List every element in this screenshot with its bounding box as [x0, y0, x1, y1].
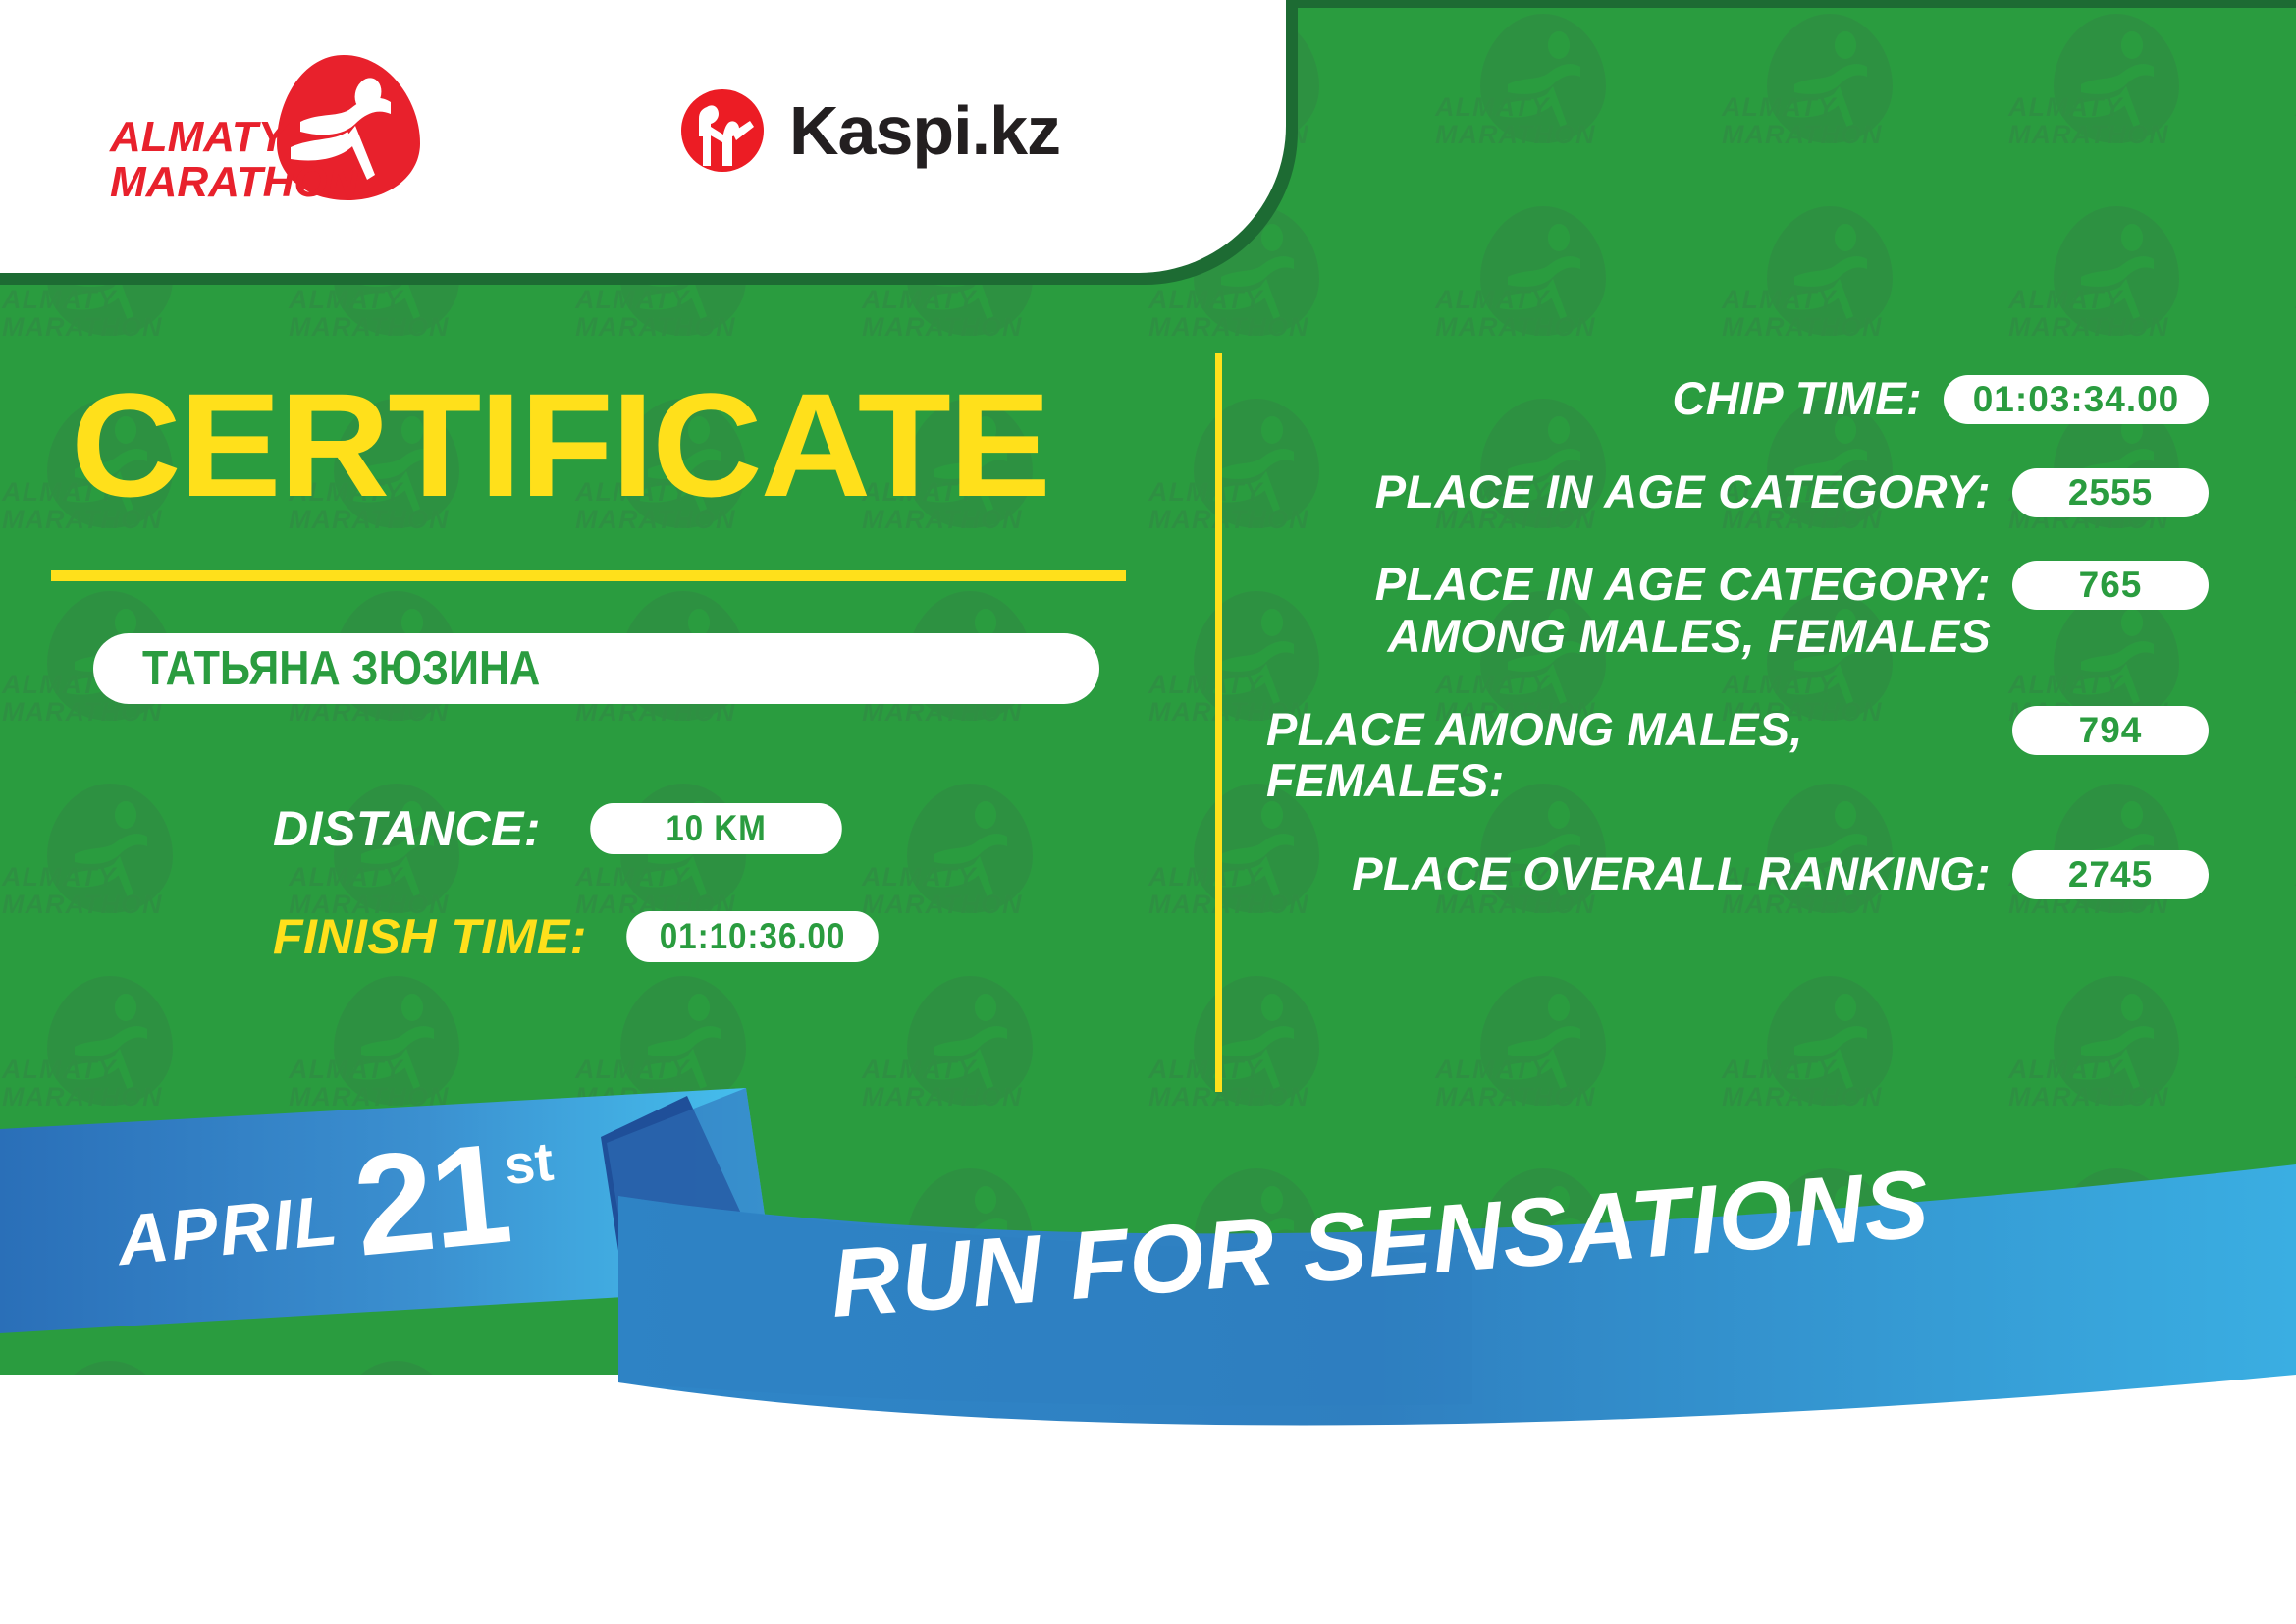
distance-row: DISTANCE: 10 KM — [273, 800, 856, 857]
page-title: CERTIFICATE — [71, 371, 1049, 518]
results-panel: CHIP TIME: 01:03:34.00 PLACE IN AGE CATE… — [1266, 373, 2209, 941]
sponsors-footer — [0, 1375, 2296, 1624]
result-row-place-age-category-gender: PLACE IN AGE CATEGORY: AMONG MALES, FEMA… — [1266, 559, 2209, 662]
result-row-place-age-category: PLACE IN AGE CATEGORY: 2555 — [1266, 466, 2209, 518]
event-day: 21 — [349, 1128, 513, 1273]
distance-value: 10 KM — [590, 803, 842, 854]
column-divider — [1215, 353, 1222, 1092]
result-label: PLACE IN AGE CATEGORY: — [1266, 466, 2012, 518]
result-label: PLACE OVERALL RANKING: — [1266, 848, 2012, 900]
result-row-chip-time: CHIP TIME: 01:03:34.00 — [1266, 373, 2209, 425]
kaspi-logo: Kaspi.kz — [677, 88, 1060, 173]
title-divider-rule — [51, 570, 1126, 581]
finish-time-value: 01:10:36.00 — [626, 911, 879, 962]
result-row-place-overall: PLACE OVERALL RANKING: 2745 — [1266, 848, 2209, 900]
event-month: APRIL — [114, 1180, 343, 1281]
result-value: 2745 — [2012, 850, 2209, 899]
result-label: PLACE AMONG MALES, FEMALES: — [1266, 704, 2012, 807]
certificate-page: ALMATY MARATHON ALMATY MARATHON — [0, 0, 2296, 1624]
result-value: 2555 — [2012, 468, 2209, 517]
event-day-suffix: st — [502, 1129, 557, 1197]
result-value: 765 — [2012, 561, 2209, 610]
result-value: 794 — [2012, 706, 2209, 755]
result-label: CHIP TIME: — [1266, 373, 1944, 425]
result-value: 01:03:34.00 — [1944, 375, 2209, 424]
participant-name-value: ТАТЬЯНА ЗЮЗИНА — [142, 641, 540, 696]
finish-time-label: FINISH TIME: — [273, 908, 587, 965]
kaspi-wordmark: Kaspi.kz — [789, 91, 1060, 170]
logo-line-1: ALMATY — [109, 113, 291, 161]
result-label: PLACE IN AGE CATEGORY: AMONG MALES, FEMA… — [1266, 559, 2012, 662]
almaty-marathon-logo: ALMATY MARATHON — [108, 51, 442, 208]
result-row-place-among-gender: PLACE AMONG MALES, FEMALES: 794 — [1266, 704, 2209, 807]
kaspi-mark-icon — [677, 85, 768, 176]
finish-time-row: FINISH TIME: 01:10:36.00 — [273, 908, 892, 965]
logo-line-2: MARATHON — [110, 158, 360, 206]
participant-name-field: ТАТЬЯНА ЗЮЗИНА — [93, 633, 1099, 704]
distance-label: DISTANCE: — [273, 800, 541, 857]
